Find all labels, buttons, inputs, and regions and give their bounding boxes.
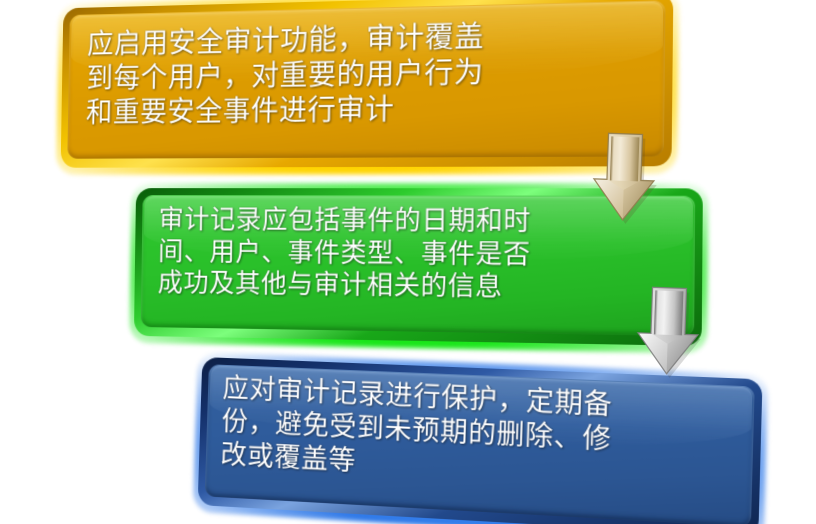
down-arrow-icon (630, 281, 713, 384)
audit-enable-box[interactable]: 应启用安全审计功能，审计覆盖 到每个用户，对重要的用户行为 和重要安全事件进行审… (61, 0, 674, 168)
box-line-2: 到每个用户，对重要的用户行为 (86, 57, 484, 95)
audit-enable-text: 应启用安全审计功能，审计覆盖 到每个用户，对重要的用户行为 和重要安全事件进行审… (86, 20, 485, 132)
box-line-2: 间、用户、事件类型、事件是否 (158, 237, 531, 270)
box-line-3: 和重要安全事件进行审计 (86, 94, 395, 129)
audit-record-protection-text: 应对审计记录进行保护，定期备 份，避免受到未预期的删除、修 改或覆盖等 (220, 372, 613, 492)
audit-record-content-text: 审计记录应包括事件的日期和时 间、用户、事件类型、事件是否 成功及其他与审计相关… (158, 204, 532, 304)
down-arrow-icon (586, 127, 669, 230)
box-line-1: 审计记录应包括事件的日期和时 (158, 205, 531, 236)
box-line-3: 改或覆盖等 (220, 439, 356, 476)
diagram-canvas: 应启用安全审计功能，审计覆盖 到每个用户，对重要的用户行为 和重要安全事件进行审… (0, 0, 816, 524)
